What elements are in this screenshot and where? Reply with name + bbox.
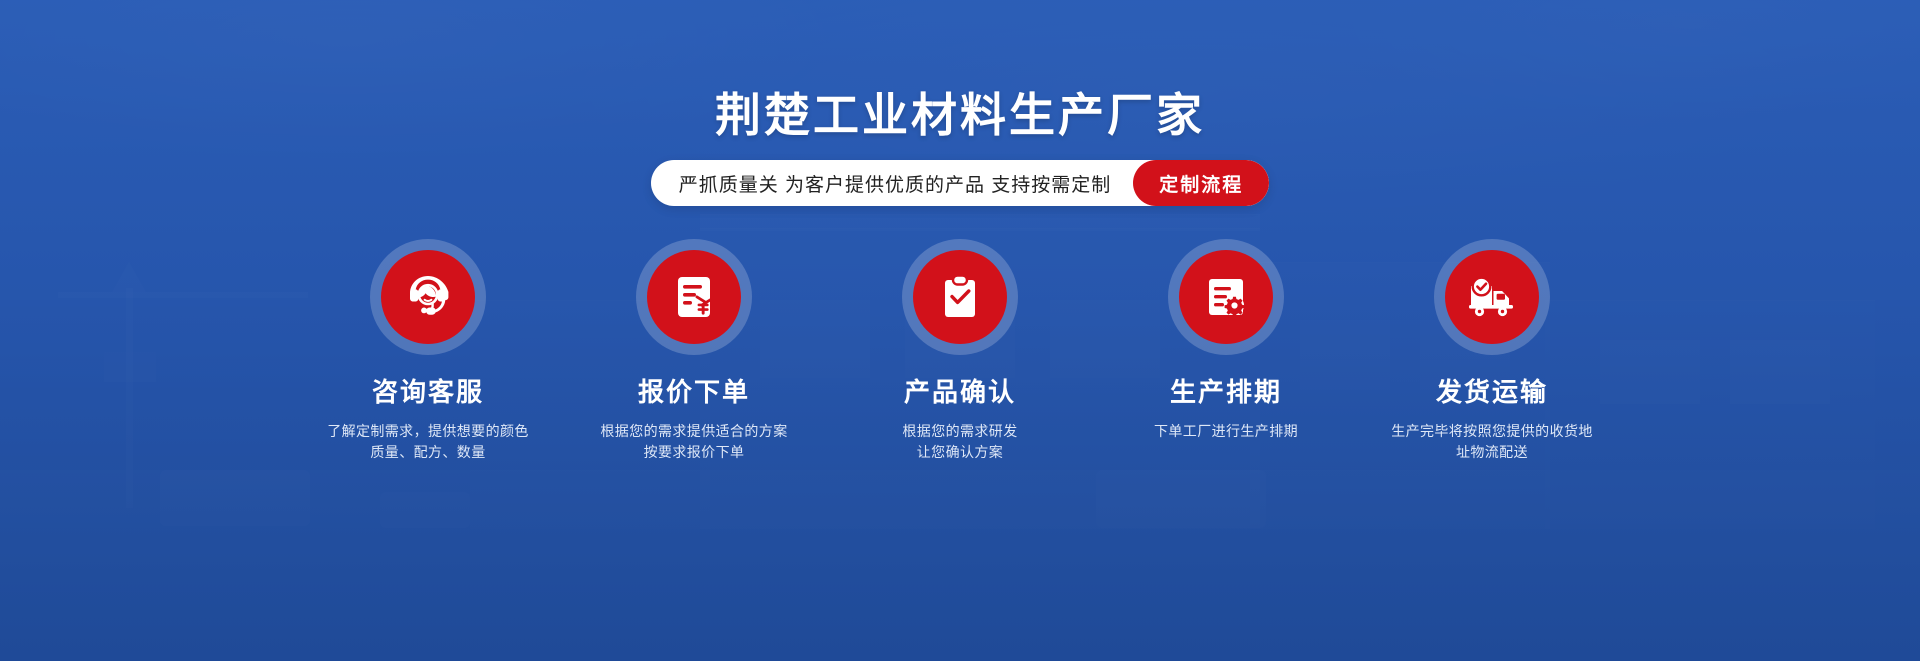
step-description-line: 根据您的需求研发 bbox=[902, 421, 1017, 442]
document-gear-icon bbox=[1201, 272, 1251, 322]
step-title: 咨询客服 bbox=[372, 378, 484, 407]
step-icon-circle bbox=[1179, 250, 1273, 344]
step-description: 生产完毕将按照您提供的收货地 址物流配送 bbox=[1391, 421, 1593, 463]
step-description-line: 址物流配送 bbox=[1391, 442, 1593, 463]
process-steps-list: 咨询客服 了解定制需求，提供想要的颜色 质量、配方、数量 bbox=[295, 250, 1625, 463]
quote-invoice-yuan-icon bbox=[669, 272, 719, 322]
process-step-consult[interactable]: 咨询客服 了解定制需求，提供想要的颜色 质量、配方、数量 bbox=[295, 250, 561, 463]
step-description-line: 让您确认方案 bbox=[902, 442, 1017, 463]
banner-content: 荆楚工业材料生产厂家 严抓质量关 为客户提供优质的产品 支持按需定制 定制流程 bbox=[0, 0, 1920, 661]
step-title: 产品确认 bbox=[904, 378, 1016, 407]
slogan-text: 严抓质量关 为客户提供优质的产品 支持按需定制 bbox=[651, 160, 1134, 206]
slogan-pill-container: 严抓质量关 为客户提供优质的产品 支持按需定制 定制流程 bbox=[0, 160, 1920, 206]
step-icon-circle bbox=[381, 250, 475, 344]
page-title: 荆楚工业材料生产厂家 bbox=[0, 92, 1920, 138]
step-icon-circle bbox=[647, 250, 741, 344]
step-description: 了解定制需求，提供想要的颜色 质量、配方、数量 bbox=[327, 421, 529, 463]
step-description-line: 生产完毕将按照您提供的收货地 bbox=[1391, 421, 1593, 442]
process-step-confirm[interactable]: 产品确认 根据您的需求研发 让您确认方案 bbox=[827, 250, 1093, 463]
step-description-line: 根据您的需求提供适合的方案 bbox=[600, 421, 787, 442]
step-title: 生产排期 bbox=[1170, 378, 1282, 407]
step-title: 发货运输 bbox=[1436, 378, 1548, 407]
clipboard-check-icon bbox=[935, 272, 985, 322]
step-description: 下单工厂进行生产排期 bbox=[1154, 421, 1298, 442]
step-title: 报价下单 bbox=[638, 378, 750, 407]
step-description-line: 按要求报价下单 bbox=[600, 442, 787, 463]
slogan-pill: 严抓质量关 为客户提供优质的产品 支持按需定制 定制流程 bbox=[651, 160, 1270, 206]
process-banner: 荆楚工业材料生产厂家 严抓质量关 为客户提供优质的产品 支持按需定制 定制流程 bbox=[0, 0, 1920, 661]
process-step-shipping[interactable]: 发货运输 生产完毕将按照您提供的收货地 址物流配送 bbox=[1359, 250, 1625, 463]
headset-support-icon bbox=[402, 271, 454, 323]
step-description: 根据您的需求提供适合的方案 按要求报价下单 bbox=[600, 421, 787, 463]
step-description: 根据您的需求研发 让您确认方案 bbox=[902, 421, 1017, 463]
delivery-truck-check-icon bbox=[1465, 272, 1519, 322]
custom-process-button[interactable]: 定制流程 bbox=[1133, 160, 1269, 206]
process-step-schedule[interactable]: 生产排期 下单工厂进行生产排期 bbox=[1093, 250, 1359, 442]
step-icon-circle bbox=[1445, 250, 1539, 344]
step-description-line: 质量、配方、数量 bbox=[327, 442, 529, 463]
process-step-quote[interactable]: 报价下单 根据您的需求提供适合的方案 按要求报价下单 bbox=[561, 250, 827, 463]
step-icon-circle bbox=[913, 250, 1007, 344]
step-description-line: 了解定制需求，提供想要的颜色 bbox=[327, 421, 529, 442]
step-description-line: 下单工厂进行生产排期 bbox=[1154, 421, 1298, 442]
